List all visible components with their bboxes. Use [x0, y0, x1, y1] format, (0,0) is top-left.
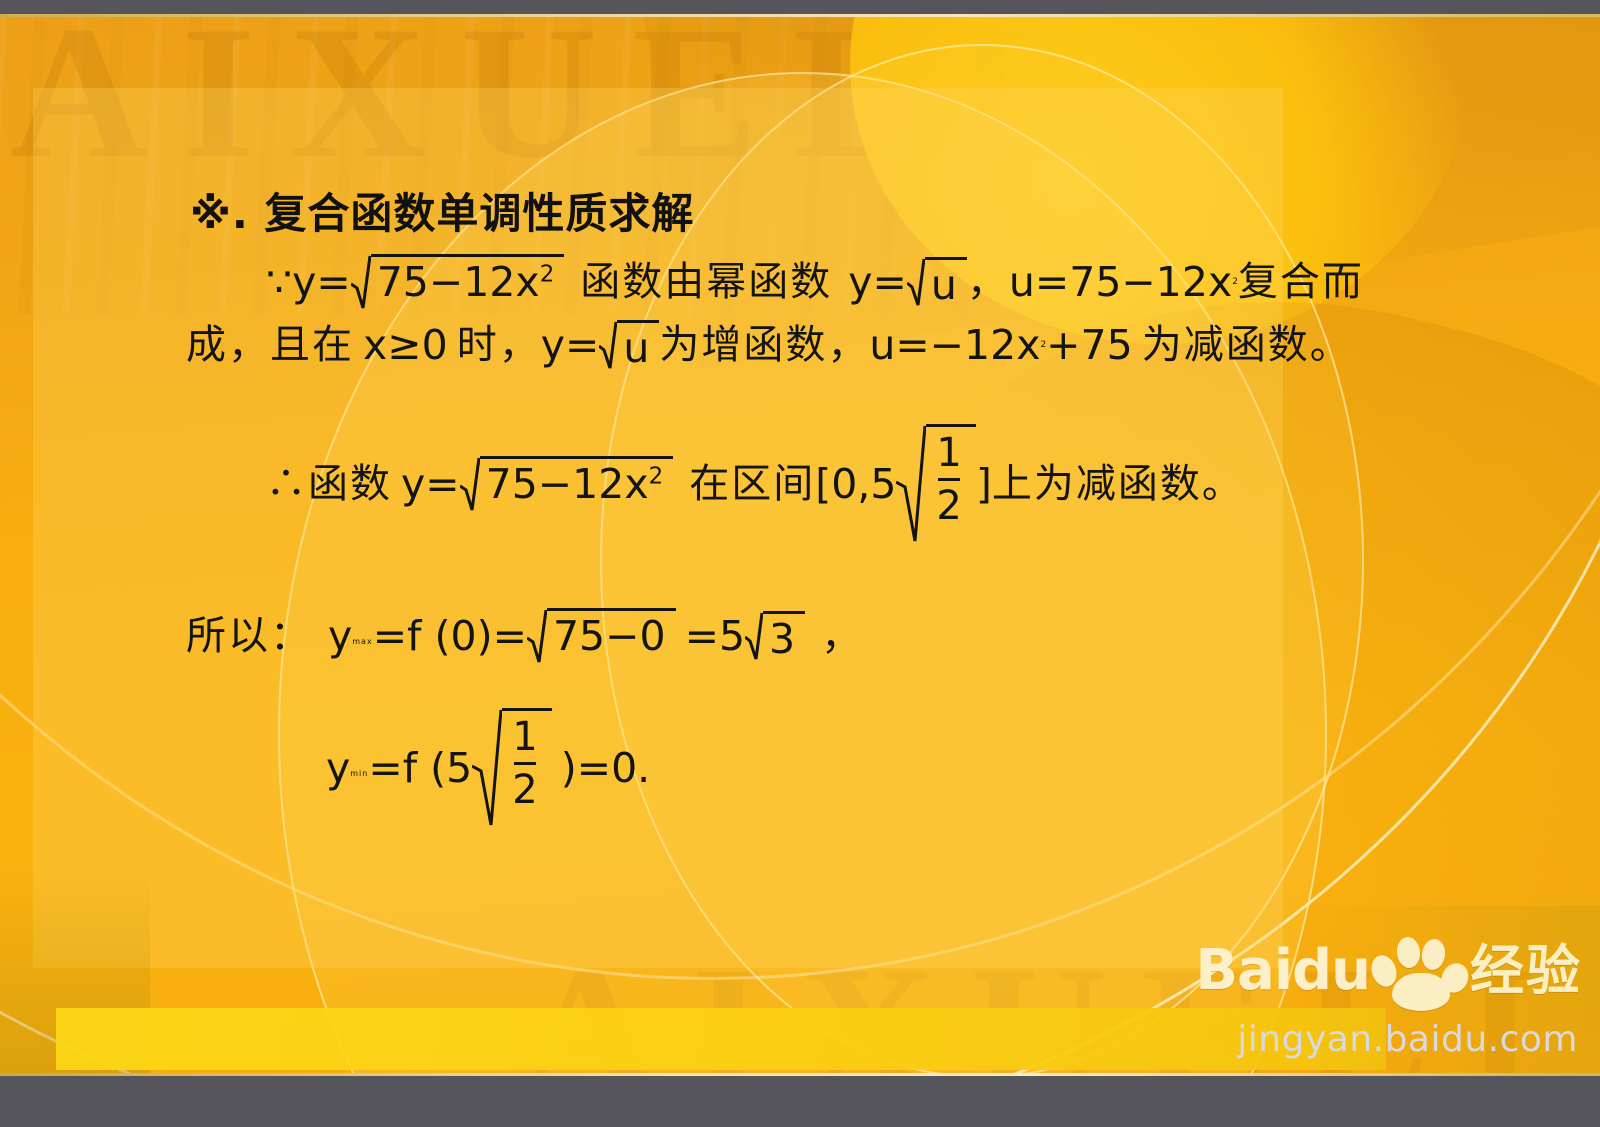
y-min-symbol: y — [326, 748, 350, 789]
formula-line-5: ymin=f (5 1 2 )=0. — [326, 708, 1416, 828]
radicand-a-text: 75−12x — [377, 258, 540, 306]
text-in-interval: 在区间 — [689, 464, 815, 504]
slide-heading: ※. 复合函数单调性质求解 — [190, 180, 694, 241]
y-min-subscript: min — [350, 770, 368, 778]
slide-hairline-top — [0, 14, 1600, 17]
radicand-b-text: 75−12x — [486, 460, 649, 508]
window-chrome-top — [0, 0, 1600, 14]
baidu-logo: Baidu 经验 — [1195, 933, 1582, 1009]
y-equals-label-4: y= — [401, 464, 460, 505]
interval-open: [0,5 — [815, 464, 896, 505]
text-on-it-decreasing: 上为减函数。 — [992, 464, 1244, 504]
radicand-u-a: u — [925, 257, 967, 307]
radicand-a: 75−12x2 — [371, 254, 565, 304]
equals-five: =5 — [685, 616, 745, 657]
text-composite-formed: 复合而 — [1238, 262, 1364, 302]
slide-hairline-bottom — [0, 1073, 1600, 1076]
text-increasing-function: 为增函数， — [659, 325, 869, 365]
comma-1: ， — [967, 262, 1009, 302]
paw-print-icon — [1366, 933, 1462, 1009]
therefore-function-label: ∴函数 — [266, 464, 392, 504]
presentation-slide: AIXUELI AIXUELI ※. 复合函数单调性质求解 ∵ y= — [0, 14, 1600, 1076]
fraction-one-half-a: 1 2 — [926, 424, 975, 526]
fraction-numerator-b: 1 — [512, 717, 537, 757]
paw-toe-3 — [1420, 938, 1447, 972]
fraction-denominator-b: 2 — [512, 770, 537, 810]
u-definition-2-plus75: +75 — [1046, 325, 1133, 366]
trailing-comma: ， — [821, 616, 863, 656]
y-equals-label-1: y= — [292, 262, 351, 303]
fraction-denominator-a: 2 — [936, 486, 961, 526]
text-cheng-and-when: 成，且在 — [186, 325, 354, 365]
radical-one-half-a: 1 2 — [896, 424, 975, 544]
x-ge-zero: x≥0 — [363, 325, 448, 366]
because-symbol: ∵ — [266, 262, 292, 303]
fraction-numerator-a: 1 — [936, 433, 961, 473]
y-max-subscript: max — [352, 638, 372, 646]
f-of-five: =f (5 — [368, 748, 472, 789]
watermark-url: jingyan.baidu.com — [1237, 1019, 1578, 1060]
window-chrome-bottom — [0, 1076, 1600, 1127]
text-shi: 时， — [457, 325, 541, 365]
radical-75-minus-12x2-b: 75−12x2 — [460, 456, 674, 512]
u-definition-1: u=75−12x — [1009, 262, 1232, 303]
formula-line-2: 成，且在 x≥0 时， y= u 为增函数， u=−12x2+75 — [186, 320, 1416, 370]
slide-content: ※. 复合函数单调性质求解 ∵ y= 75−12x2 函数由幂函数 — [0, 14, 1600, 1076]
radical-75-minus-0: 75−0 — [527, 608, 676, 664]
y-equals-label-3: y= — [541, 325, 600, 366]
formula-line-3: ∴函数 y= 75−12x2 在区间 [0,5 — [266, 424, 1416, 544]
interval-close: ] — [976, 464, 992, 505]
text-decreasing-function: 为减函数。 — [1142, 325, 1352, 365]
radical-u-b: u — [599, 320, 659, 370]
paw-sole — [1392, 973, 1450, 1011]
baidu-jingyan-watermark: Baidu 经验 jingyan.baidu.com — [1195, 933, 1582, 1060]
u-definition-2: u=−12x — [869, 325, 1040, 366]
radicand-a-exponent: 2 — [540, 261, 555, 287]
f-of-zero: =f (0)= — [373, 616, 527, 657]
y-max-symbol: y — [328, 616, 352, 657]
radicand-b: 75−12x2 — [480, 456, 674, 506]
paw-toe-2 — [1395, 936, 1421, 969]
radicand-u-b: u — [617, 320, 659, 370]
equals-zero: )=0. — [561, 748, 650, 789]
radical-u-a: u — [907, 257, 967, 307]
fraction-bar-b — [514, 762, 535, 765]
radical-75-minus-12x2-a: 75−12x2 — [351, 254, 565, 310]
radical-three: 3 — [745, 611, 805, 661]
radicand-b-exponent: 2 — [649, 463, 664, 489]
screenshot-root: AIXUELI AIXUELI ※. 复合函数单调性质求解 ∵ y= — [0, 0, 1600, 1127]
jingyan-wordmark: 经验 — [1470, 944, 1582, 998]
formula-line-4: 所以： ymax=f (0)= 75−0 =5 — [186, 608, 1416, 664]
formula-line-1: ∵ y= 75−12x2 函数由幂函数 y= — [266, 254, 1416, 310]
text-function-by-power-function: 函数由幂函数 — [580, 262, 832, 302]
baidu-wordmark: Baidu — [1195, 943, 1370, 999]
slide-body: ∵ y= 75−12x2 函数由幂函数 y= — [186, 254, 1416, 828]
radical-one-half-b: 1 2 — [472, 708, 551, 828]
fraction-bar-a — [938, 478, 959, 481]
radicand-75-minus-0: 75−0 — [547, 608, 676, 658]
fraction-one-half-b: 1 2 — [502, 708, 551, 810]
y-equals-label-2: y= — [848, 262, 907, 303]
text-so: 所以： — [186, 616, 312, 656]
radicand-three: 3 — [763, 611, 805, 661]
